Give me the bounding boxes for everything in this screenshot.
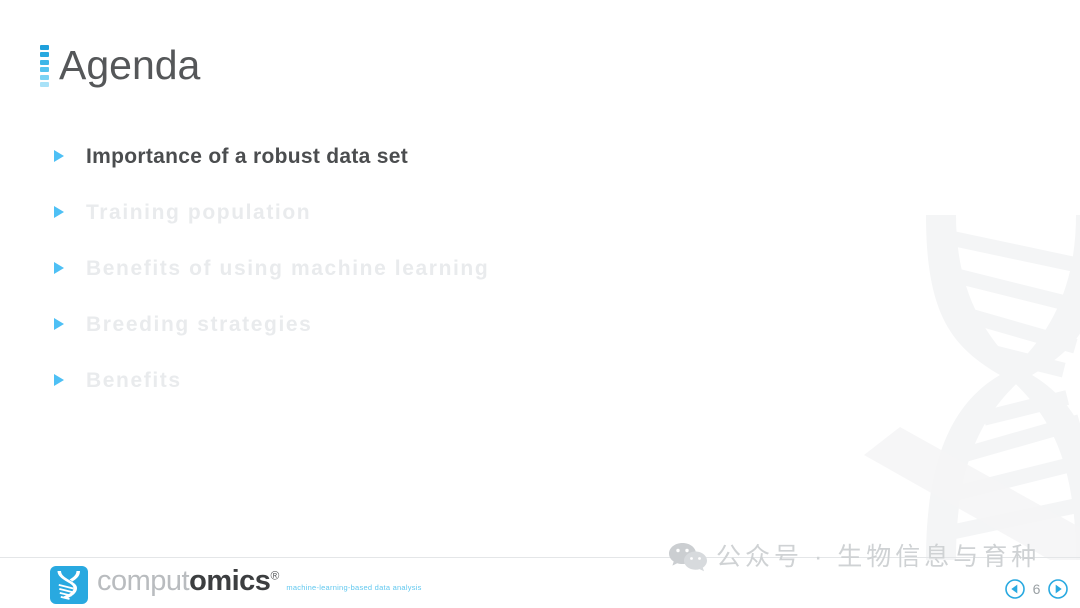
chevron-right-circle-icon[interactable] — [1048, 579, 1068, 599]
page-number: 6 — [1032, 582, 1041, 596]
computomics-logo: computomics® machine-learning-based data… — [50, 566, 422, 604]
agenda-item-label: Training population — [86, 202, 311, 223]
logo-wordmark: computomics® machine-learning-based data… — [97, 566, 422, 596]
slide-canvas: Agenda Importance of a robust data set T… — [0, 0, 1080, 608]
registered-trademark-mark: ® — [270, 568, 278, 582]
agenda-item-label: Breeding strategies — [86, 314, 312, 335]
wechat-watermark: 公众号 · 生物信息与育种 — [668, 541, 1040, 573]
agenda-item-label: Benefits — [86, 370, 182, 391]
triangle-right-icon — [53, 317, 65, 331]
agenda-item-benefits[interactable]: Benefits — [53, 352, 773, 408]
pager: 6 — [1005, 579, 1068, 599]
triangle-right-icon — [53, 205, 65, 219]
page-title: Agenda — [40, 38, 200, 92]
logo-tagline: machine-learning-based data analysis — [286, 583, 421, 592]
agenda-item-label: Importance of a robust data set — [86, 146, 408, 167]
triangle-right-icon — [53, 261, 65, 275]
wechat-account-text: 公众号 · 生物信息与育种 — [716, 545, 1040, 570]
logo-word-dark: omics — [189, 565, 270, 597]
agenda-item-label: Benefits of using machine learning — [86, 258, 489, 279]
agenda-list: Importance of a robust data set Training… — [53, 128, 773, 408]
dna-watermark-graphic — [840, 215, 1080, 560]
triangle-right-icon — [53, 373, 65, 387]
agenda-item-importance-of-a-robust-data-set[interactable]: Importance of a robust data set — [53, 128, 773, 184]
agenda-item-breeding-strategies[interactable]: Breeding strategies — [53, 296, 773, 352]
wechat-icon — [668, 541, 708, 573]
agenda-item-training-population[interactable]: Training population — [53, 184, 773, 240]
dna-helix-icon — [50, 566, 88, 604]
logo-word-light: comput — [97, 565, 189, 597]
triangle-right-icon — [53, 149, 65, 163]
agenda-item-benefits-of-using-machine-learning[interactable]: Benefits of using machine learning — [53, 240, 773, 296]
page-title-text: Agenda — [59, 45, 200, 86]
dotted-bar-icon — [40, 45, 49, 87]
chevron-left-circle-icon[interactable] — [1005, 579, 1025, 599]
